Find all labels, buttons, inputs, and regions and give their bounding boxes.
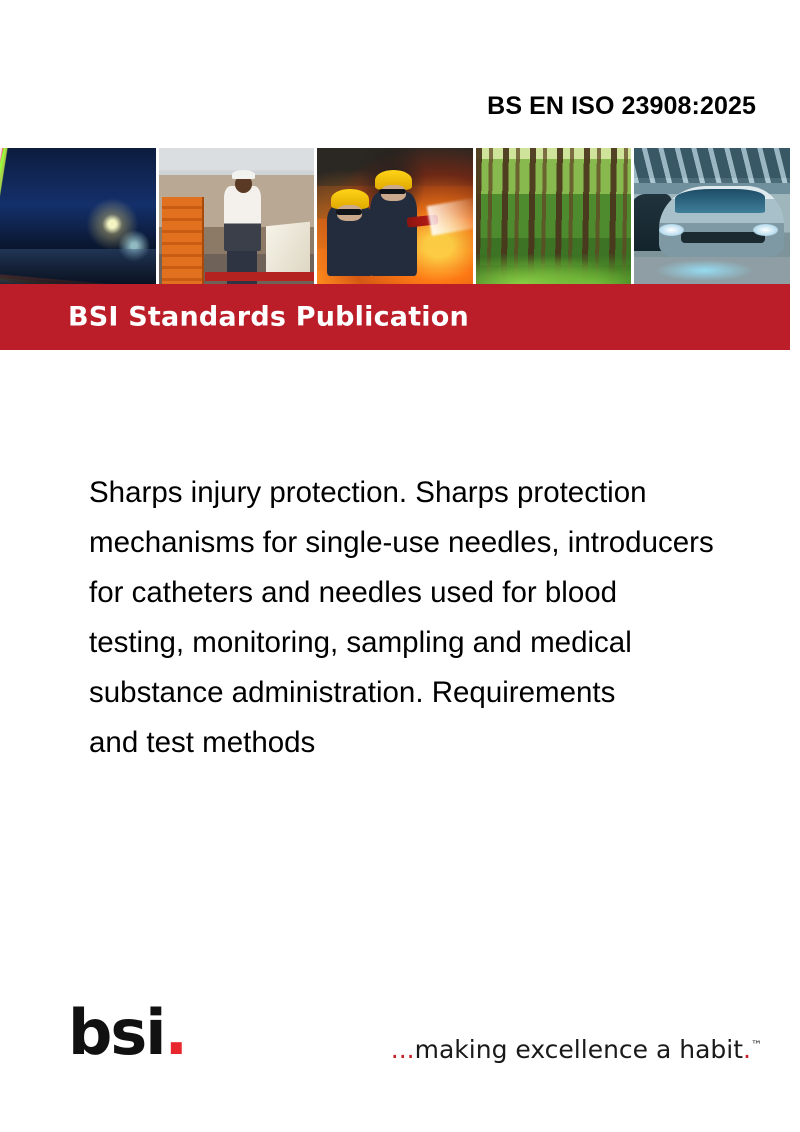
publication-band: BSI Standards Publication [0, 284, 790, 350]
water-spray [427, 199, 473, 237]
page-title: Sharps injury protection. Sharps protect… [89, 468, 789, 768]
car-assembly-line-photo [634, 148, 790, 284]
tagline-ellipsis: ... [391, 1035, 415, 1064]
trademark-symbol: ™ [751, 1039, 762, 1052]
bsi-logo-dot: . [165, 996, 187, 1069]
warehouse-crate [162, 197, 204, 284]
title-line: and test methods [89, 718, 789, 768]
title-line: mechanisms for single-use needles, intro… [89, 518, 789, 568]
title-line: for catheters and needles used for blood [89, 568, 789, 618]
floor-reflection [656, 260, 752, 282]
tagline-text: making excellence a habit [415, 1035, 743, 1064]
warehouse-rail [205, 272, 314, 282]
firefighters-hose-photo [317, 148, 473, 284]
factory-ceiling-lights [634, 148, 790, 183]
forest-trees-photo [476, 148, 632, 284]
visor-front [379, 189, 405, 194]
cover-banner: BSI Standards Publication [0, 148, 790, 350]
worker-cap [232, 170, 255, 180]
standard-number: BS EN ISO 23908:2025 [0, 92, 756, 121]
bsi-logo-text: bsi [68, 996, 165, 1069]
firefighter-front [370, 192, 417, 276]
night-traffic-light-trails-photo [0, 148, 156, 284]
publication-label: BSI Standards Publication [68, 302, 469, 333]
car-grille [681, 232, 765, 243]
tagline-period: . [743, 1035, 751, 1064]
title-line: Sharps injury protection. Sharps protect… [89, 468, 789, 518]
worker-body [224, 186, 261, 251]
title-line: substance administration. Requirements [89, 668, 789, 718]
warehouse-worker-photo [159, 148, 315, 284]
photo-strip [0, 148, 790, 284]
title-line: testing, monitoring, sampling and medica… [89, 618, 789, 668]
bsi-logo: bsi. [68, 1002, 186, 1064]
bsi-tagline: ...making excellence a habit.™ [391, 1035, 762, 1064]
visor-rear [336, 209, 362, 214]
car-windshield [675, 189, 765, 213]
